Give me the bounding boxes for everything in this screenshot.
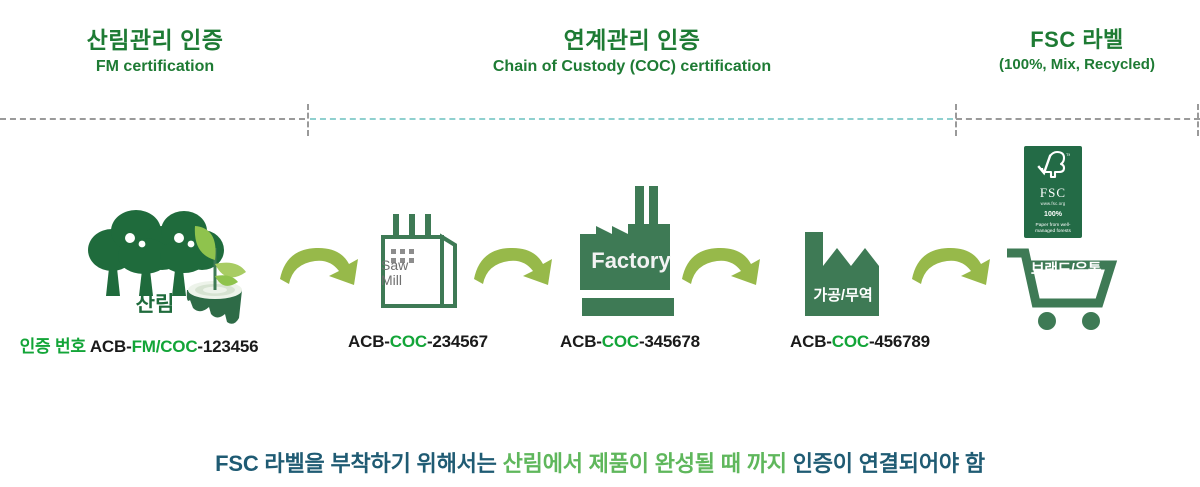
fsc-wordmark: FSC (1024, 186, 1082, 199)
code-highlight: COC (602, 332, 639, 351)
fsc-claim: Paper from well- managed forests (1024, 223, 1082, 235)
fsc-product-label: TM FSC www.fsc.org 100% Paper from well-… (1024, 146, 1082, 238)
section-header-coc-kr: 연계관리 인증 (312, 28, 952, 54)
section-header-label-kr: FSC 라벨 (958, 28, 1196, 53)
divider-line-fm (0, 118, 305, 120)
fsc-percent: 100% (1024, 211, 1082, 218)
flow-arrow-1 (276, 243, 362, 299)
caption-part1: FSC 라벨을 부착하기 위해서는 (215, 451, 503, 476)
code-highlight: COC (390, 332, 427, 351)
checkmark-tree-icon: TM (1036, 150, 1070, 180)
code-highlight: FM/COC (132, 337, 198, 356)
certificate-code-trade: ACB-COC-456789 (730, 332, 990, 352)
divider-line-label (956, 118, 1200, 120)
code-prefix: ACB- (790, 332, 832, 351)
forest-icon-label: 산림 (100, 288, 210, 318)
divider-tick-left (307, 104, 309, 136)
sawmill-label-line1: Saw (381, 258, 437, 273)
code-suffix: -234567 (427, 332, 488, 351)
certificate-code-lead: 인증 번호 (20, 337, 86, 356)
caption-part2: 인증이 연결되어야 함 (787, 451, 985, 476)
trade-icon-label: 가공/무역 (795, 284, 891, 305)
code-highlight: COC (832, 332, 869, 351)
fsc-trademark: TM (1066, 152, 1070, 157)
certificate-code-sawmill: ACB-COC-234567 (308, 332, 528, 352)
code-suffix: -123456 (197, 337, 258, 356)
code-prefix: ACB- (560, 332, 602, 351)
factory-icon-label: Factory (576, 248, 686, 274)
flow-arrow-3 (678, 243, 764, 299)
flow-arrow-2 (470, 243, 556, 299)
section-header-fm-kr: 산림관리 인증 (10, 28, 300, 54)
section-header-fm-en: FM certification (10, 58, 300, 76)
divider-line-coc (310, 118, 953, 120)
diagram-caption: FSC 라벨을 부착하기 위해서는 산림에서 제품이 완성될 때 까지 인증이 … (0, 446, 1200, 478)
section-header-fm: 산림관리 인증 FM certification (10, 28, 300, 76)
sawmill-label-line2: Mill (381, 273, 437, 288)
divider-tick-mid (955, 104, 957, 136)
code-suffix: -345678 (639, 332, 700, 351)
code-prefix: ACB- (90, 337, 132, 356)
sawmill-icon-label: Saw Mill (381, 258, 437, 288)
section-header-coc-en: Chain of Custody (COC) certification (312, 58, 952, 76)
divider-tick-right (1197, 104, 1199, 136)
code-suffix: -456789 (869, 332, 930, 351)
certificate-code-factory: ACB-COC-345678 (500, 332, 760, 352)
section-header-coc: 연계관리 인증 Chain of Custody (COC) certifica… (312, 28, 952, 76)
fsc-chain-of-custody-diagram: 산림관리 인증 FM certification 연계관리 인증 Chain o… (0, 0, 1200, 487)
fsc-claim-line2: managed forests (1029, 229, 1077, 235)
flow-arrow-4 (908, 243, 994, 299)
retail-icon-label: 브랜드/유통 (1019, 258, 1113, 279)
section-header-label-en: (100%, Mix, Recycled) (958, 57, 1196, 74)
fsc-url: www.fsc.org (1024, 201, 1082, 206)
certificate-code-forest: 인증 번호ACB-FM/COC-123456 (0, 332, 278, 357)
section-header-label: FSC 라벨 (100%, Mix, Recycled) (958, 28, 1196, 73)
code-prefix: ACB- (348, 332, 390, 351)
caption-highlight: 산림에서 제품이 완성될 때 까지 (503, 451, 787, 476)
